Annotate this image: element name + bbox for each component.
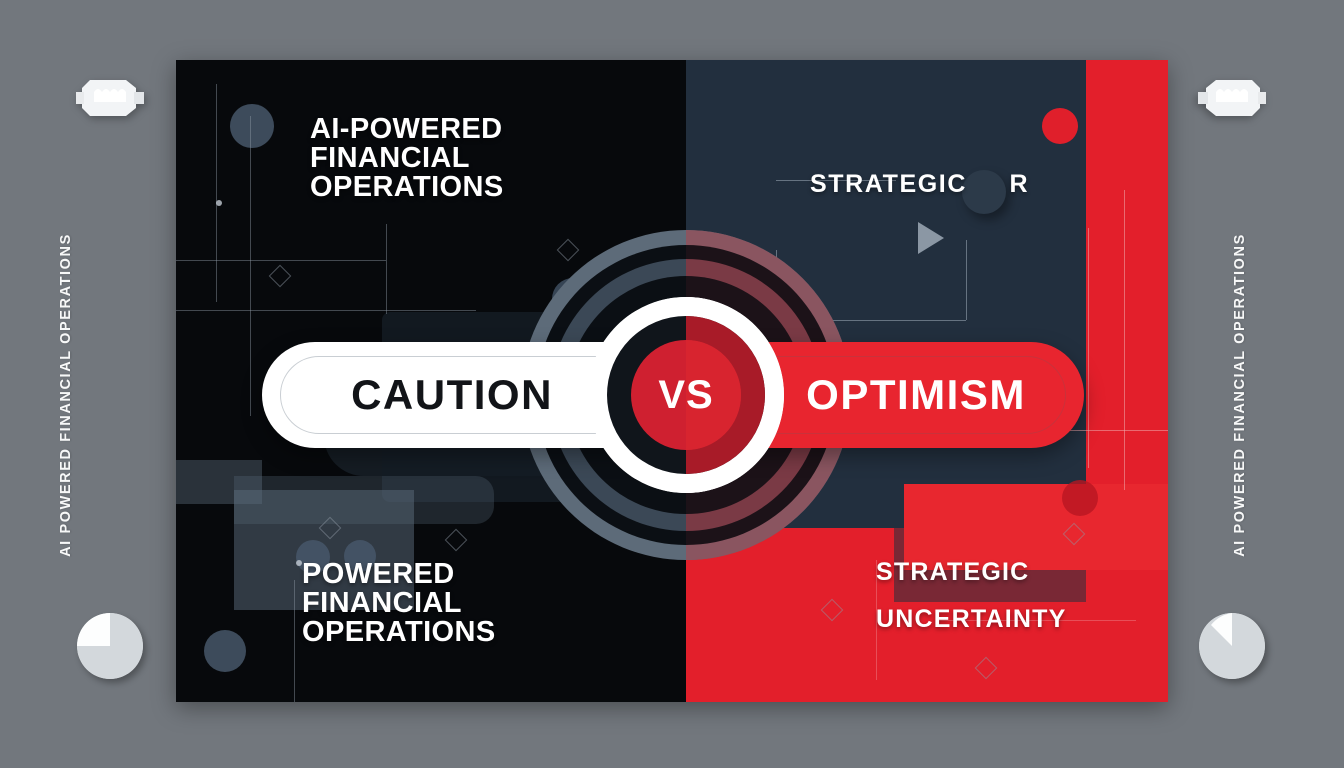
title-line: UNCERTAINTY [876,607,1067,632]
circuit-line [216,84,217,302]
title-top-left: AI-POWERED FINANCIAL OPERATIONS [310,115,504,202]
circuit-line [294,580,295,702]
title-bottom-left: POWERED FINANCIAL OPERATIONS [302,560,496,647]
circuit-line [250,116,251,416]
title-line: FINANCIAL [302,589,496,618]
circuit-line [1088,228,1089,468]
title-line: STRATEGIC [876,558,1029,586]
title-bottom-right: STRATEGIC UNCERTAINTY [876,560,1067,632]
screenshot-stage: AI POWERED FINANCIAL OPERATIONS AI POWER… [0,0,1344,768]
poster-canvas: CAUTION OPTIMISM VS AI-POWERED FINANCIAL… [176,60,1168,702]
pie-chart-icon [77,613,143,679]
circuit-line [176,310,476,311]
title-line: AI-POWERED [310,115,504,144]
title-line: R [1010,170,1030,198]
arrow-right-icon [918,222,944,254]
circuit-line [176,260,386,261]
title-line: OPERATIONS [302,618,496,647]
vs-badge: VS [588,297,784,493]
pie-chart-icon [1199,613,1265,679]
chip-badge-icon [1196,74,1268,122]
title-line: FINANCIAL [310,144,504,173]
decor-dot [204,630,246,672]
decor-dot [230,104,274,148]
red-node-icon [1042,108,1078,144]
title-line: POWERED [302,560,496,589]
circuit-line [966,240,967,320]
title-line: STRATEGIC [810,170,967,198]
title-line: OPERATIONS [310,173,504,202]
red-node-icon [1062,480,1098,516]
circuit-line [1124,190,1125,490]
right-vertical-label: AI POWERED FINANCIAL OPERATIONS [1232,225,1248,565]
node-dot [216,200,222,206]
chip-badge-icon [74,74,146,122]
decor-block [176,460,262,504]
vs-label: VS [588,297,784,493]
red-edge-strip [1086,60,1168,702]
title-top-right: STRATEGIC R [810,172,1029,197]
left-vertical-label: AI POWERED FINANCIAL OPERATIONS [58,225,74,565]
circuit-line [386,224,387,314]
